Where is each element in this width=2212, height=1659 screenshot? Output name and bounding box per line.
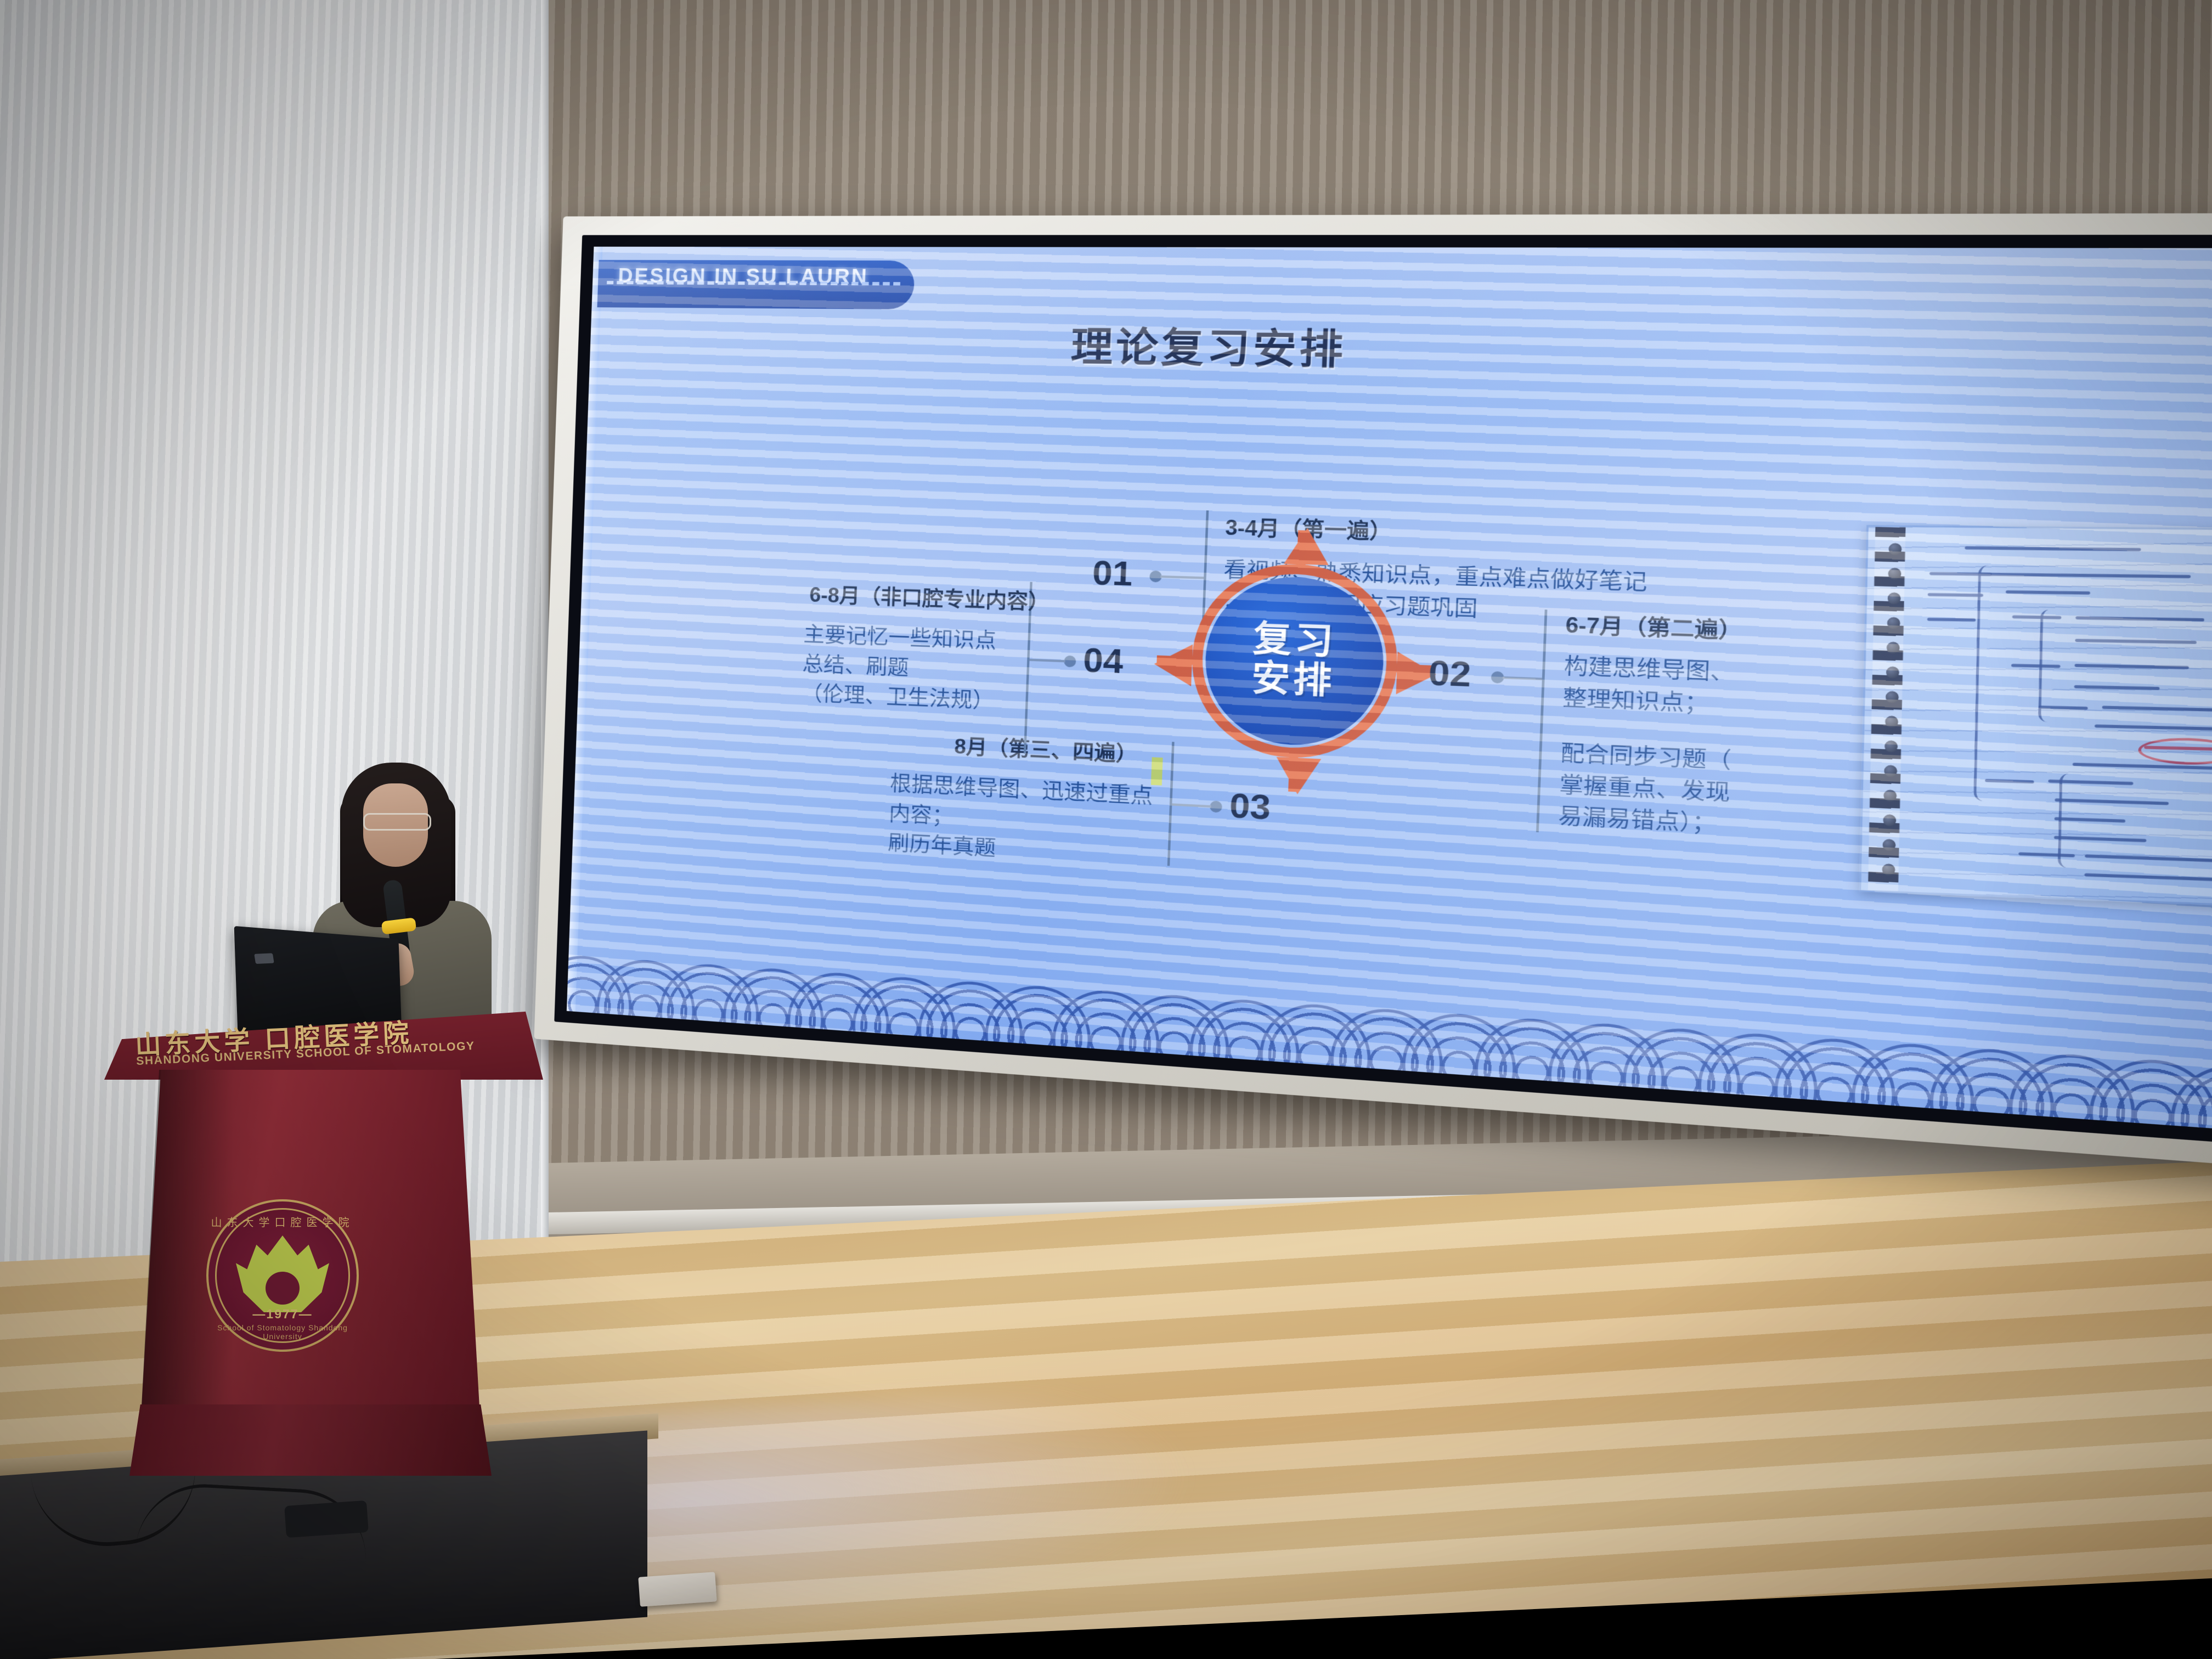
item-body-03: 根据思维导图、迅速过重点 内容； 刷历年真题 (887, 769, 1163, 873)
item-number-02: 02 (1428, 652, 1472, 695)
item-body-04: 主要记忆一些知识点 总结、刷题 （伦理、卫生法规） (801, 620, 1019, 718)
arrow-up-icon (1284, 528, 1330, 565)
item-connector-03 (1172, 803, 1211, 808)
center-hub: 复习 安排 (1189, 561, 1401, 762)
emblem-arc-top: 山东大学口腔医学院 (208, 1214, 357, 1229)
item-dot-04 (1064, 656, 1076, 668)
slide-title: 理论复习安排 (1070, 315, 1347, 376)
item-heading-04: 6-8月（非口腔专业内容） (809, 579, 1050, 616)
item-heading-03: 8月（第三、四遍） (954, 730, 1138, 768)
glasses-icon (363, 813, 431, 831)
hub-label-line2: 安排 (1251, 659, 1335, 702)
arrow-left-icon (1153, 643, 1193, 686)
led-display: DESIGN IN SU LAURN 理论复习安排 01 3-4月（第一遍） 看… (534, 213, 2212, 1169)
item-dot-03 (1210, 800, 1222, 812)
presentation-slide: DESIGN IN SU LAURN 理论复习安排 01 3-4月（第一遍） 看… (567, 247, 2212, 1131)
university-emblem: 山东大学口腔医学院 —1977— School of Stomatology S… (206, 1199, 359, 1352)
power-adapter (284, 1500, 369, 1538)
hub-label-line1: 复习 (1252, 620, 1337, 663)
item-number-04: 04 (1082, 640, 1124, 681)
item-divider-02 (1536, 610, 1547, 832)
arrow-down-icon (1275, 757, 1321, 795)
laptop-logo (254, 953, 274, 964)
floor-paper-object (638, 1572, 716, 1607)
item-number-03: 03 (1229, 785, 1272, 827)
item-heading-02: 6-7月（第二遍） (1565, 608, 1743, 645)
emblem-year: —1977— (208, 1307, 357, 1322)
item-number-01: 01 (1092, 552, 1133, 594)
emblem-arc-bottom: School of Stomatology Shandong Universit… (208, 1323, 357, 1341)
photo-scene: DESIGN IN SU LAURN 理论复习安排 01 3-4月（第一遍） 看… (0, 0, 2212, 1659)
podium-base (129, 1404, 492, 1476)
item-connector-04 (1029, 659, 1065, 663)
screen-surface: DESIGN IN SU LAURN 理论复习安排 01 3-4月（第一遍） 看… (567, 247, 2212, 1131)
item-connector-02 (1503, 676, 1543, 680)
item-body-02: 构建思维导图、 整理知识点； 配合同步习题（ 掌握重点、发现 易漏易错点）； (1558, 651, 1735, 841)
emblem-eye-icon (266, 1272, 300, 1305)
handwritten-notes-photo (1859, 525, 2212, 908)
